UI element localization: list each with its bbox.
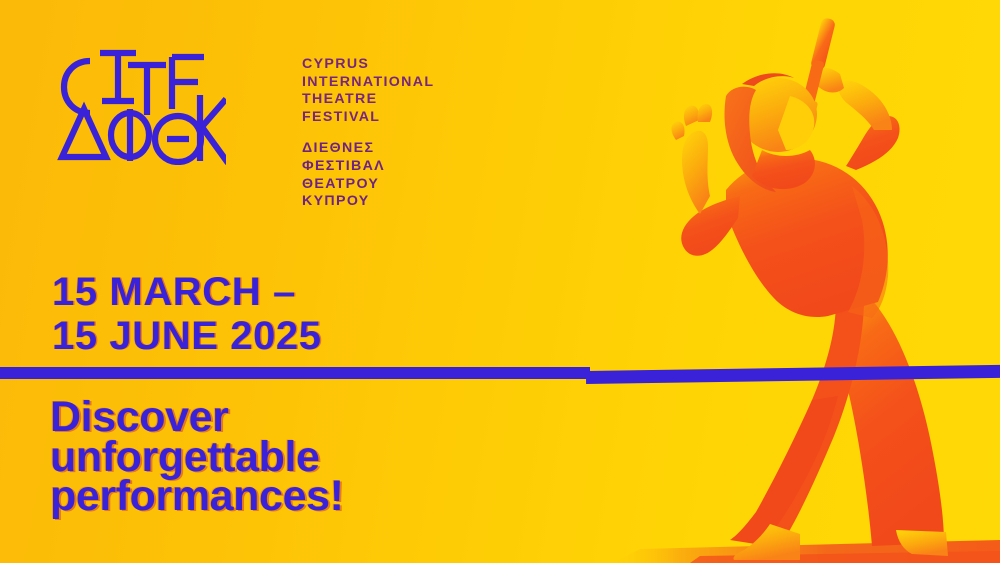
divider-rule-left [0,367,590,379]
festival-dates: 15 MARCH – 15 JUNE 2025 [52,270,322,358]
festival-name-latin-line2: INTERNATIONAL [302,74,434,90]
headline-line1: Discover [50,398,344,438]
festival-name-block: CYPRUS INTERNATIONAL THEATRE FESTIVAL ΔΙ… [302,56,434,211]
dates-line2: 15 JUNE 2025 [52,314,322,358]
headline: Discover unforgettable performances! [50,398,344,517]
festival-name-greek-line2: ΘΕΑΤΡΟΥ ΚΥΠΡΟΥ [302,176,434,211]
festival-name-greek-line1: ΔΙΕΘΝΕΣ ΦΕΣΤΙΒΑΛ [302,140,434,175]
festival-logo[interactable]: CYPRUS INTERNATIONAL THEATRE FESTIVAL ΔΙ… [54,47,434,162]
dates-line1: 15 MARCH – [52,270,322,314]
festival-name-latin-line3: THEATRE FESTIVAL [302,91,380,125]
citf-monogram-icon [54,47,226,165]
divider-rule-right [586,365,1000,384]
headline-line3: performances! [50,477,344,517]
festival-name-latin-line1: CYPRUS [302,56,369,72]
poster-canvas: CYPRUS INTERNATIONAL THEATRE FESTIVAL ΔΙ… [0,0,1000,563]
